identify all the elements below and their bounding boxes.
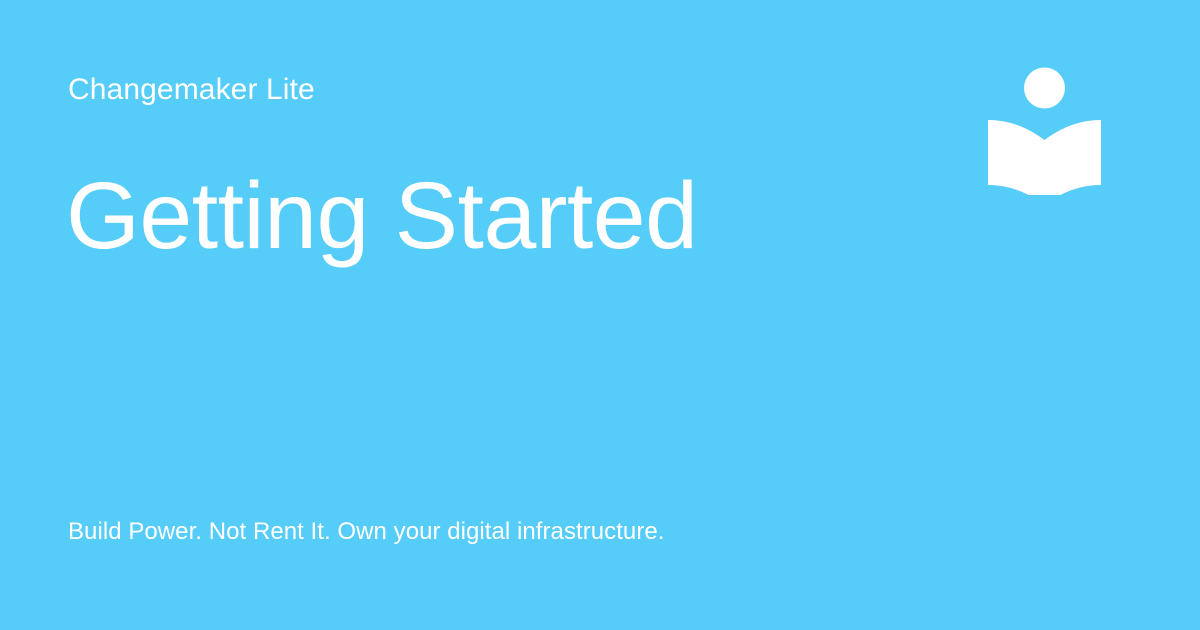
open-book-shape bbox=[988, 120, 1101, 195]
reader-head-circle bbox=[1024, 68, 1065, 109]
brand-eyebrow: Changemaker Lite bbox=[68, 71, 315, 109]
social-share-card: Changemaker Lite Getting Started Build P… bbox=[0, 0, 1200, 630]
tagline: Build Power. Not Rent It. Own your digit… bbox=[68, 516, 665, 548]
page-title: Getting Started bbox=[66, 160, 697, 272]
brand-logo bbox=[980, 60, 1110, 195]
open-book-reader-icon bbox=[980, 60, 1110, 195]
